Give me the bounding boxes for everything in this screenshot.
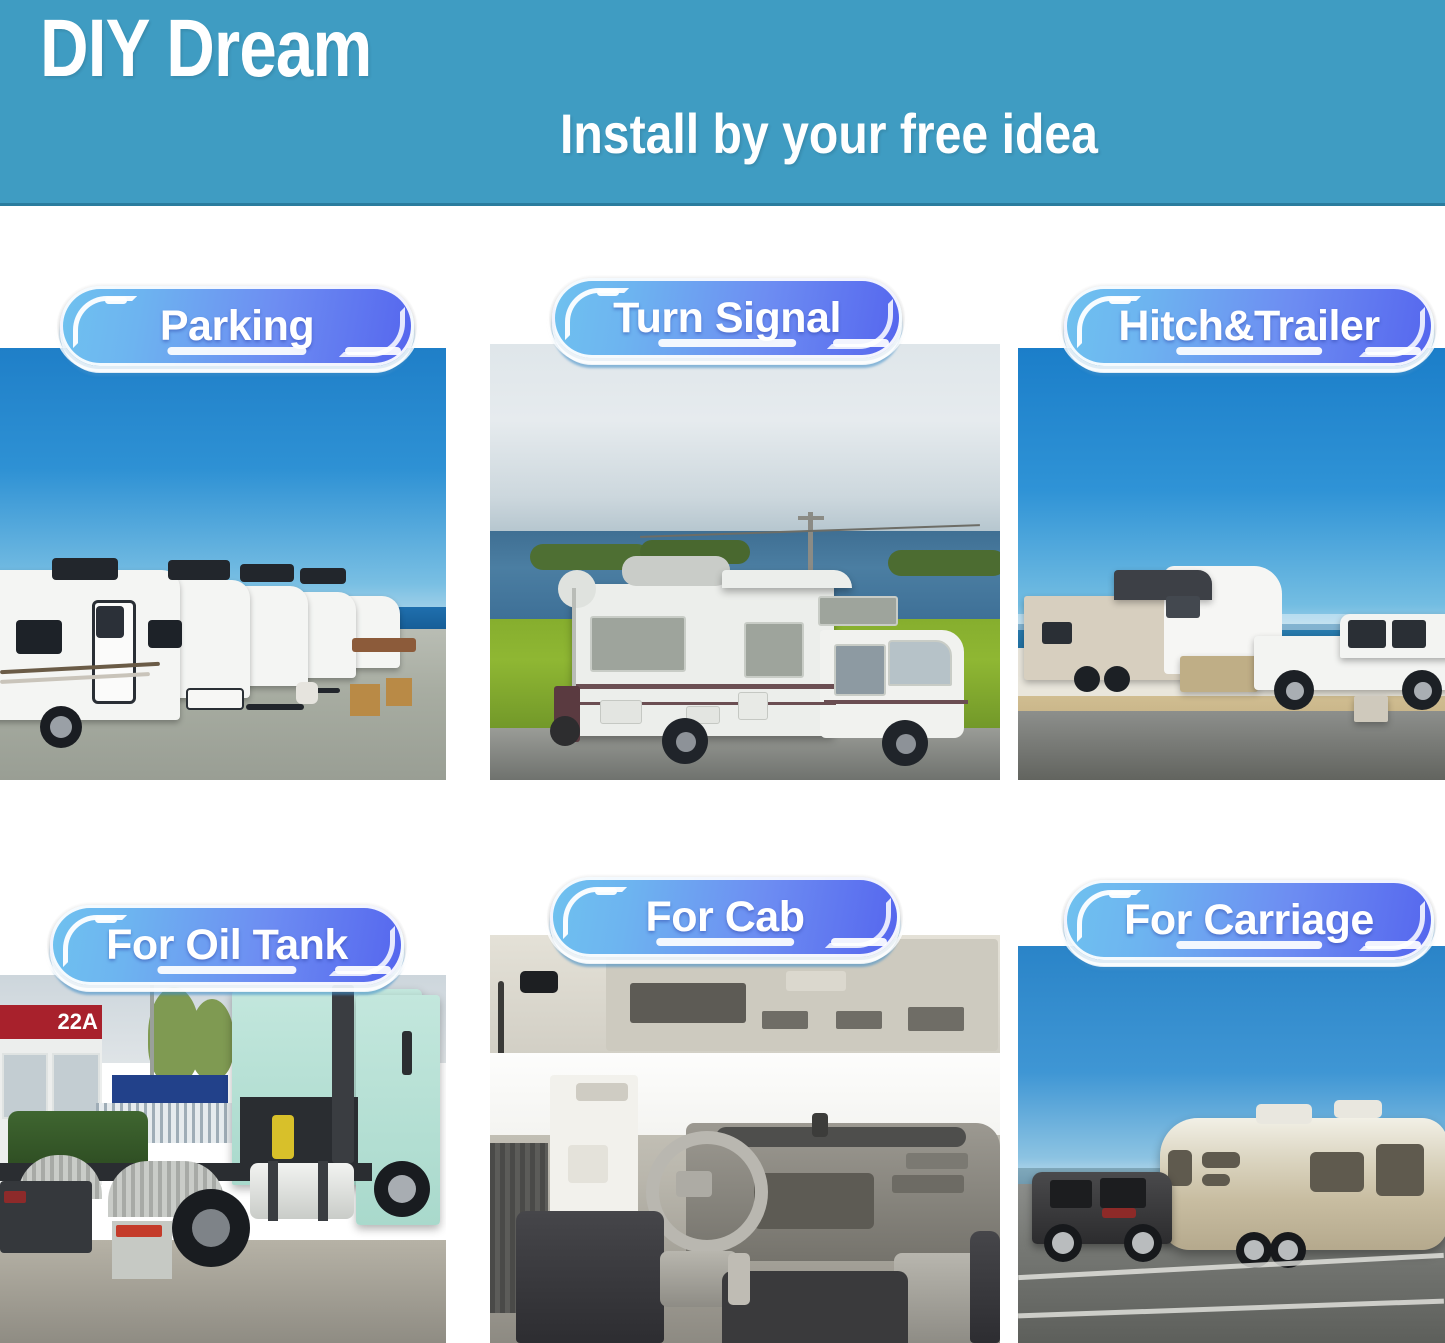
photo-silver-airstream-trailer-towed-by-dark-suv — [1018, 946, 1445, 1343]
badge-gloss-dot-icon — [595, 888, 617, 895]
badge-label: Turn Signal — [613, 294, 841, 343]
badge-label: Parking — [160, 302, 314, 351]
badge-gloss-bar-icon — [157, 966, 296, 974]
badge-parking[interactable]: Parking — [60, 286, 414, 366]
dealership-sign-text: 22A — [57, 1009, 97, 1035]
badge-gloss-arc-icon — [1077, 890, 1141, 942]
photo-white-class-c-motorhome-on-grass-overlooking-ocean — [490, 344, 1000, 780]
badge-turn-signal[interactable]: Turn Signal — [552, 278, 902, 358]
badge-label: For Carriage — [1124, 896, 1374, 945]
badge-gloss-dot-icon — [105, 297, 127, 304]
badge-gloss-arc-icon — [563, 887, 627, 939]
badge-gloss-bar-icon — [167, 347, 306, 355]
page-subtitle: Install by your free idea — [560, 106, 1098, 162]
header-banner: DIY Dream Install by your free idea — [0, 0, 1445, 206]
badge-for-cab[interactable]: For Cab — [550, 877, 900, 957]
feature-cell-turn-signal: Turn Signal — [490, 344, 1000, 780]
badge-label: Hitch&Trailer — [1118, 302, 1379, 351]
badge-gloss-dot-icon — [597, 289, 619, 296]
badge-gloss-bar-icon — [1176, 941, 1322, 949]
badge-for-oil-tank[interactable]: For Oil Tank — [50, 905, 404, 985]
feature-cell-parking: Parking — [0, 348, 446, 780]
badge-gloss-arc-icon — [63, 915, 127, 967]
photo-mint-green-semi-truck-tractor-with-fuel-tanks: 22A — [0, 975, 446, 1343]
page-title: DIY Dream — [40, 8, 371, 90]
badge-hitch-trailer[interactable]: Hitch&Trailer — [1064, 286, 1434, 366]
feature-cell-for-oil-tank: 22A — [0, 975, 446, 1343]
feature-cell-for-carriage: For Carriage — [1018, 946, 1445, 1343]
badge-gloss-arc-icon — [565, 288, 629, 340]
badge-gloss-dot-icon — [1109, 891, 1131, 898]
badge-for-carriage[interactable]: For Carriage — [1064, 880, 1434, 960]
photo-truck-cab-interior-dashboard-and-steering-wheel — [490, 935, 1000, 1343]
photo-row-of-white-travel-trailers-parked-by-the-sea — [0, 348, 446, 780]
badge-gloss-dot-icon — [1109, 297, 1131, 304]
badge-label: For Cab — [646, 893, 805, 942]
feature-cell-hitch-trailer: Hitch&Trailer — [1018, 348, 1445, 780]
badge-label: For Oil Tank — [106, 921, 348, 970]
badge-gloss-arc-icon — [73, 296, 137, 348]
badge-gloss-dot-icon — [95, 916, 117, 923]
badge-gloss-bar-icon — [1176, 347, 1322, 355]
badge-gloss-bar-icon — [658, 339, 796, 347]
feature-cell-for-cab: For Cab — [490, 935, 1000, 1343]
photo-fifth-wheel-trailer-with-white-pickup-truck — [1018, 348, 1445, 780]
badge-gloss-bar-icon — [656, 938, 794, 946]
badge-gloss-arc-icon — [1077, 296, 1141, 348]
